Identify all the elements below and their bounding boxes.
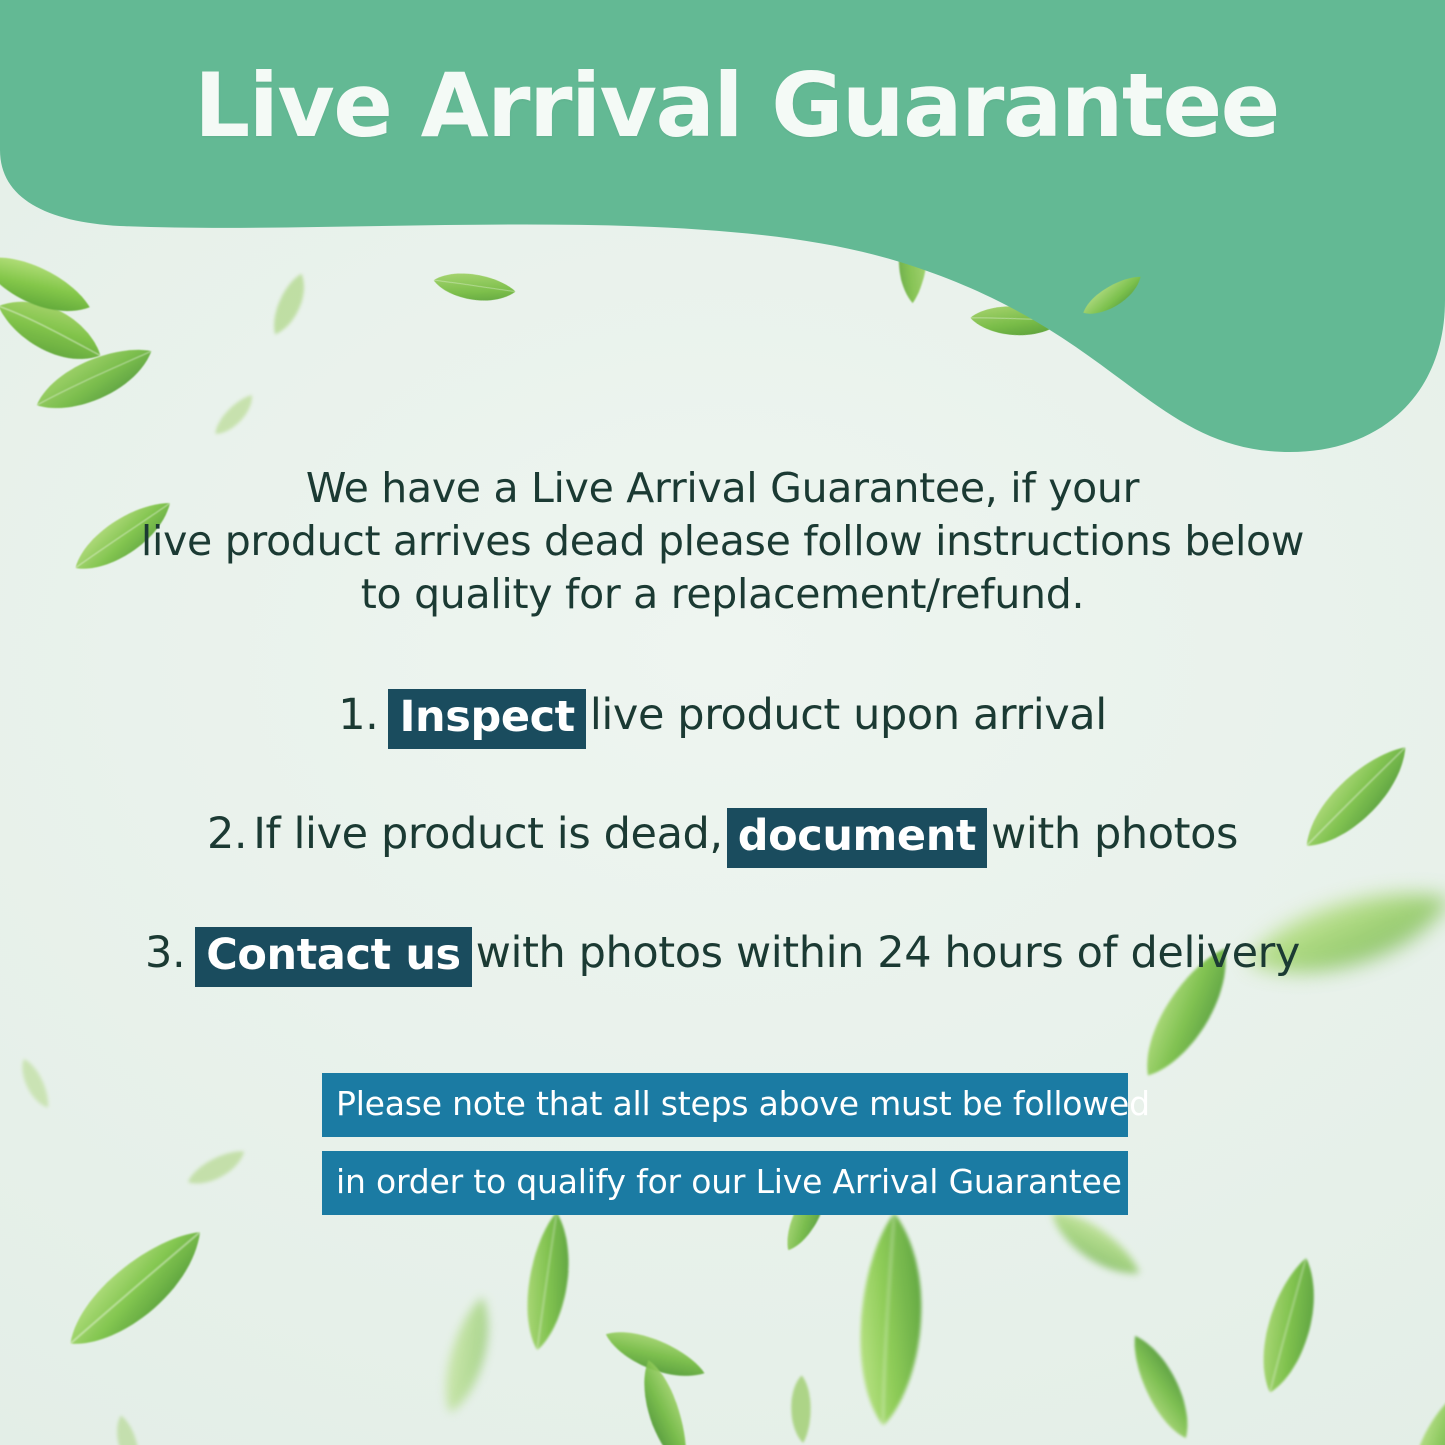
step-item-1: 1.Inspectlive product upon arrival <box>0 685 1445 749</box>
leaf-icon <box>44 1212 231 1372</box>
leaf-icon <box>1236 1249 1344 1403</box>
footer-note-line-2: in order to qualify for our Live Arrival… <box>322 1151 1128 1215</box>
leaf-icon <box>831 1205 954 1434</box>
leaf-icon <box>882 199 942 307</box>
step-text-after-1: live product upon arrival <box>590 690 1107 740</box>
leaf-icon <box>966 294 1068 349</box>
intro-line-1: We have a Live Arrival Guarantee, if you… <box>0 462 1445 515</box>
leaf-icon <box>0 271 116 389</box>
leaf-icon <box>1441 1344 1445 1445</box>
step-text-before-2: If live product is dead, <box>253 809 723 859</box>
step-number-3: 3. <box>145 928 185 978</box>
leaf-icon <box>260 268 321 343</box>
intro-line-3: to quality for a replacement/refund. <box>0 568 1445 621</box>
footer-note: Please note that all steps above must be… <box>322 1073 1128 1215</box>
intro-line-2: live product arrives dead please follow … <box>0 515 1445 568</box>
leaf-icon <box>596 1311 713 1401</box>
intro-paragraph: We have a Live Arrival Guarantee, if you… <box>0 462 1445 621</box>
leaf-icon <box>1265 383 1331 422</box>
leaf-icon <box>428 259 520 317</box>
leaf-icon <box>1121 1323 1205 1445</box>
live-arrival-guarantee-poster: Live Arrival Guarantee <box>0 0 1445 1445</box>
leaf-icon <box>783 1373 818 1445</box>
leaf-icon <box>0 233 100 340</box>
leaf-icon <box>181 1143 253 1194</box>
leaf-icon <box>504 1206 596 1359</box>
step-number-1: 1. <box>338 690 378 740</box>
step-highlight-inspect: Inspect <box>388 689 585 749</box>
leaf-icon <box>24 333 166 428</box>
step-text-after-3: with photos within 24 hours of delivery <box>476 928 1300 978</box>
step-text-after-2: with photos <box>991 809 1238 859</box>
leaf-icon <box>206 389 264 443</box>
step-number-2: 2. <box>207 809 247 859</box>
leaf-icon <box>1393 1379 1445 1445</box>
steps-list: 1.Inspectlive product upon arrival 2.If … <box>0 685 1445 987</box>
footer-note-line-1: Please note that all steps above must be… <box>322 1073 1128 1137</box>
leaf-icon <box>1075 269 1151 326</box>
leaf-icon <box>629 1353 697 1445</box>
leaf-icon <box>109 1412 146 1445</box>
page-title: Live Arrival Guarantee <box>0 62 1445 150</box>
step-highlight-contact-us: Contact us <box>195 927 472 987</box>
step-item-2: 2.If live product is dead,documentwith p… <box>0 804 1445 868</box>
leaf-icon <box>423 1289 515 1422</box>
step-item-3: 3.Contact uswith photos within 24 hours … <box>0 923 1445 987</box>
step-highlight-document: document <box>727 808 987 868</box>
leaf-icon <box>13 1054 55 1115</box>
